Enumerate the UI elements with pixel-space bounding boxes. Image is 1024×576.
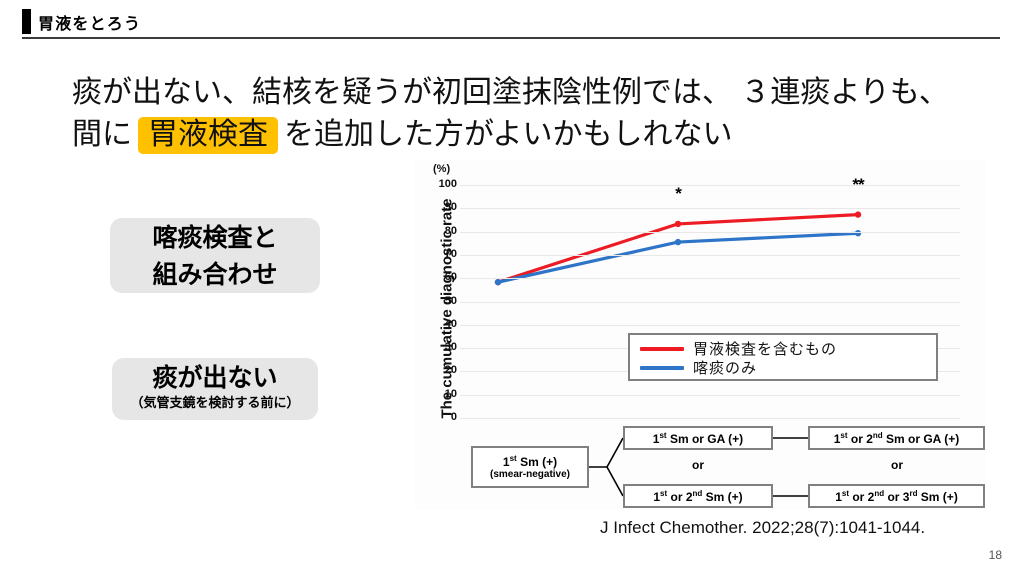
significance-marker: ** <box>852 175 863 195</box>
y-axis-tick-label: 100 <box>423 178 457 190</box>
gridline <box>460 232 960 233</box>
legend-swatch-red <box>640 347 684 351</box>
legend-label-1: 喀痰のみ <box>693 357 757 378</box>
highlight-gastric-juice-test: 胃液検査 <box>138 117 278 154</box>
flow-or-a: or <box>668 458 728 472</box>
gridline <box>460 255 960 256</box>
legend-swatch-blue <box>640 366 684 370</box>
callout-combination-line-1: 喀痰検査と <box>110 218 320 257</box>
callout-no-sputum-title: 痰が出ない <box>112 358 318 394</box>
y-axis-tick-label: 70 <box>423 248 457 260</box>
callout-combination-line-2: 組み合わせ <box>110 257 320 294</box>
flow-box-root-sub: (smear-negative) <box>490 469 570 480</box>
gridline <box>460 185 960 186</box>
y-axis-unit-label: (%) <box>433 163 450 175</box>
callout-no-sputum: 痰が出ない （気管支鏡を検討する前に） <box>112 358 318 420</box>
flow-box-a2-label: 1st or 2nd Sm (+) <box>653 489 742 504</box>
y-axis-tick-label: 30 <box>423 341 457 353</box>
page-number: 18 <box>989 548 1002 562</box>
legend-entry-1: 喀痰のみ <box>640 358 936 377</box>
y-axis-tick-label: 20 <box>423 364 457 376</box>
flow-box-b2-label: 1st or 2nd or 3rd Sm (+) <box>835 489 958 504</box>
plot-area: 1009080706050403020100*** <box>460 185 960 418</box>
callout-no-sputum-note: （気管支鏡を検討する前に） <box>112 394 318 412</box>
page-title: 胃液をとろう <box>38 10 141 34</box>
gridline <box>460 278 960 279</box>
flow-box-a1: 1st Sm or GA (+) <box>623 426 773 450</box>
flow-box-a1-label: 1st Sm or GA (+) <box>653 431 743 446</box>
lead-line-2-prefix: 間に <box>72 118 132 151</box>
slide-header: 胃液をとろう <box>0 0 1024 40</box>
callout-combination: 喀痰検査と 組み合わせ <box>110 218 320 293</box>
gridline <box>460 208 960 209</box>
lead-line-1: 痰が出ない、結核を疑うが初回塗抹陰性例では、 ３連痰よりも、 <box>72 72 972 114</box>
data-point <box>495 279 501 285</box>
legend-entry-0: 胃液検査を含むもの <box>640 339 936 358</box>
y-axis-tick-label: 80 <box>423 225 457 237</box>
chart-panel: The cumulative diagnostic rate (%) 10090… <box>415 160 985 510</box>
citation: J Infect Chemother. 2022;28(7):1041-1044… <box>600 518 925 538</box>
y-axis-tick-label: 90 <box>423 201 457 213</box>
data-point <box>675 239 681 245</box>
y-axis-tick-label: 60 <box>423 271 457 283</box>
lead-paragraph: 痰が出ない、結核を疑うが初回塗抹陰性例では、 ３連痰よりも、 間に胃液検査を追加… <box>72 72 972 156</box>
header-divider <box>22 37 1000 39</box>
significance-marker: * <box>675 184 681 204</box>
flow-or-b: or <box>867 458 927 472</box>
flow-box-root: 1st Sm (+) (smear-negative) <box>471 446 589 488</box>
gridline <box>460 325 960 326</box>
chart-legend: 胃液検査を含むもの 喀痰のみ <box>628 333 938 381</box>
flow-box-root-main: 1st Sm (+) <box>503 454 557 469</box>
gridline <box>460 395 960 396</box>
gridline <box>460 418 960 419</box>
lead-line-2-suffix: を追加した方がよいかもしれない <box>284 118 733 151</box>
header-accent-bar <box>22 9 31 34</box>
lead-line-2: 間に胃液検査を追加した方がよいかもしれない <box>72 114 972 156</box>
flow-box-a2: 1st or 2nd Sm (+) <box>623 484 773 508</box>
y-axis-tick-label: 10 <box>423 388 457 400</box>
legend-label-0: 胃液検査を含むもの <box>693 338 837 359</box>
y-axis-tick-label: 0 <box>423 411 457 423</box>
flow-box-b2: 1st or 2nd or 3rd Sm (+) <box>808 484 985 508</box>
y-axis-tick-label: 40 <box>423 318 457 330</box>
data-point <box>675 221 681 227</box>
flow-diagram: 1st Sm (+) (smear-negative) 1st Sm or GA… <box>471 426 985 508</box>
flow-box-b1-label: 1st or 2nd Sm or GA (+) <box>834 431 960 446</box>
data-point <box>855 211 861 217</box>
y-axis-tick-label: 50 <box>423 295 457 307</box>
flow-box-b1: 1st or 2nd Sm or GA (+) <box>808 426 985 450</box>
gridline <box>460 302 960 303</box>
